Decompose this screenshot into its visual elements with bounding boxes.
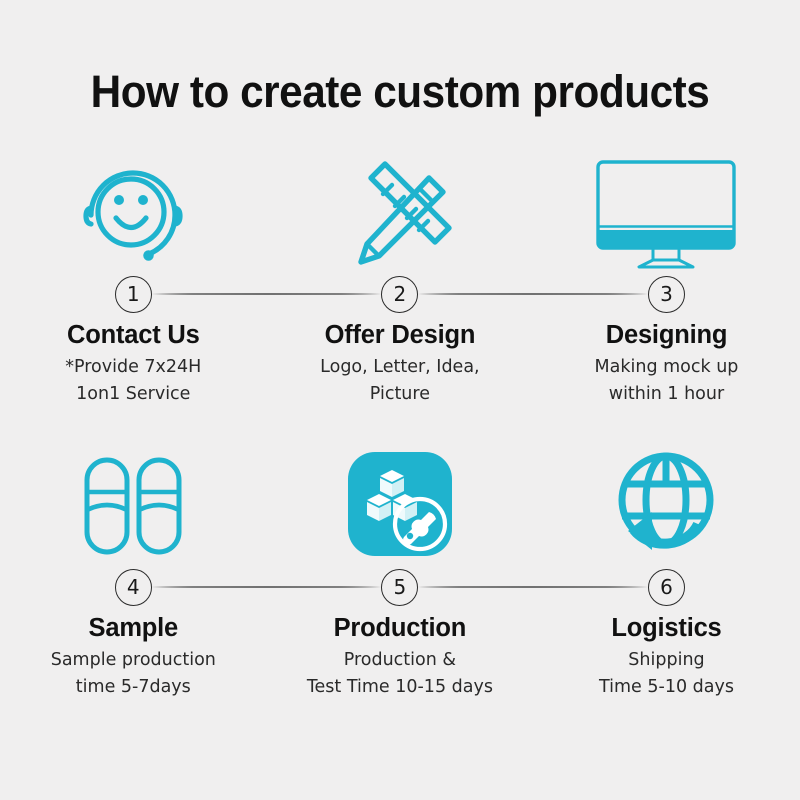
- step-description-line1: Sample production: [51, 647, 216, 674]
- connector-line: [151, 293, 381, 295]
- connector-line: [151, 586, 381, 588]
- eye-left: [114, 195, 124, 205]
- icon-box: [345, 156, 455, 272]
- step-offer-design[interactable]: 2 Offer Design Logo, Letter, Idea, Pictu…: [267, 156, 534, 408]
- step-description-line1: Making mock up: [595, 354, 739, 381]
- step-description-line2: Test Time 10-15 days: [307, 674, 493, 701]
- eye-right: [138, 195, 148, 205]
- step-title: Designing: [606, 321, 727, 350]
- step-number-badge: 1: [115, 276, 152, 313]
- step-sample[interactable]: 4 Sample Sample production time 5-7days: [0, 443, 267, 701]
- step-description-line2: Picture: [320, 381, 479, 408]
- step-number-row: 6: [533, 565, 800, 609]
- globe-arrow-icon: [612, 450, 720, 558]
- step-description-line1: Production &: [307, 647, 493, 674]
- step-description: Making mock up within 1 hour: [595, 354, 739, 408]
- headset-smiley-icon: [75, 158, 191, 270]
- step-number-badge: 6: [648, 569, 685, 606]
- connector-line: [417, 293, 647, 295]
- step-description: Sample production time 5-7days: [51, 647, 216, 701]
- step-number-badge: 3: [648, 276, 685, 313]
- step-description: Production & Test Time 10-15 days: [307, 647, 493, 701]
- step-description: *Provide 7x24H 1on1 Service: [65, 354, 201, 408]
- step-description: Logo, Letter, Idea, Picture: [320, 354, 479, 408]
- step-description-line2: Time 5-10 days: [599, 674, 734, 701]
- step-description-line2: time 5-7days: [51, 674, 216, 701]
- steps-row-1: 1 Contact Us *Provide 7x24H 1on1 Service: [0, 156, 800, 408]
- step-number-badge: 2: [381, 276, 418, 313]
- step-title: Logistics: [611, 614, 721, 643]
- step-title: Sample: [89, 614, 179, 643]
- step-number-badge: 4: [115, 569, 152, 606]
- step-title: Offer Design: [325, 321, 476, 350]
- step-number-badge: 5: [381, 569, 418, 606]
- step-description-line1: Logo, Letter, Idea,: [320, 354, 479, 381]
- step-logistics[interactable]: 6 Logistics Shipping Time 5-10 days: [533, 443, 800, 701]
- icon-box: [612, 443, 720, 565]
- step-production[interactable]: 5 Production Production & Test Time 10-1…: [267, 443, 534, 701]
- step-description-line1: Shipping: [599, 647, 734, 674]
- step-description-line2: 1on1 Service: [65, 381, 201, 408]
- icon-box: [348, 443, 452, 565]
- step-description: Shipping Time 5-10 days: [599, 647, 734, 701]
- icon-box: [595, 156, 737, 272]
- steps-container: 1 Contact Us *Provide 7x24H 1on1 Service: [0, 156, 800, 702]
- boxes-wrench-icon: [348, 452, 452, 556]
- step-designing[interactable]: 3 Designing Making mock up within 1 hour: [533, 156, 800, 408]
- steps-row-2: 4 Sample Sample production time 5-7days: [0, 443, 800, 701]
- step-contact-us[interactable]: 1 Contact Us *Provide 7x24H 1on1 Service: [0, 156, 267, 408]
- pencil-ruler-icon: [345, 160, 455, 268]
- step-title: Contact Us: [67, 321, 200, 350]
- monitor-icon: [595, 159, 737, 269]
- icon-box: [81, 443, 185, 565]
- step-number-row: 3: [533, 272, 800, 316]
- connector-line: [417, 586, 647, 588]
- step-title: Production: [334, 614, 467, 643]
- step-description-line1: *Provide 7x24H: [65, 354, 201, 381]
- icon-box: [75, 156, 191, 272]
- slippers-icon: [81, 448, 185, 560]
- step-description-line2: within 1 hour: [595, 381, 739, 408]
- page-title: How to create custom products: [24, 0, 776, 118]
